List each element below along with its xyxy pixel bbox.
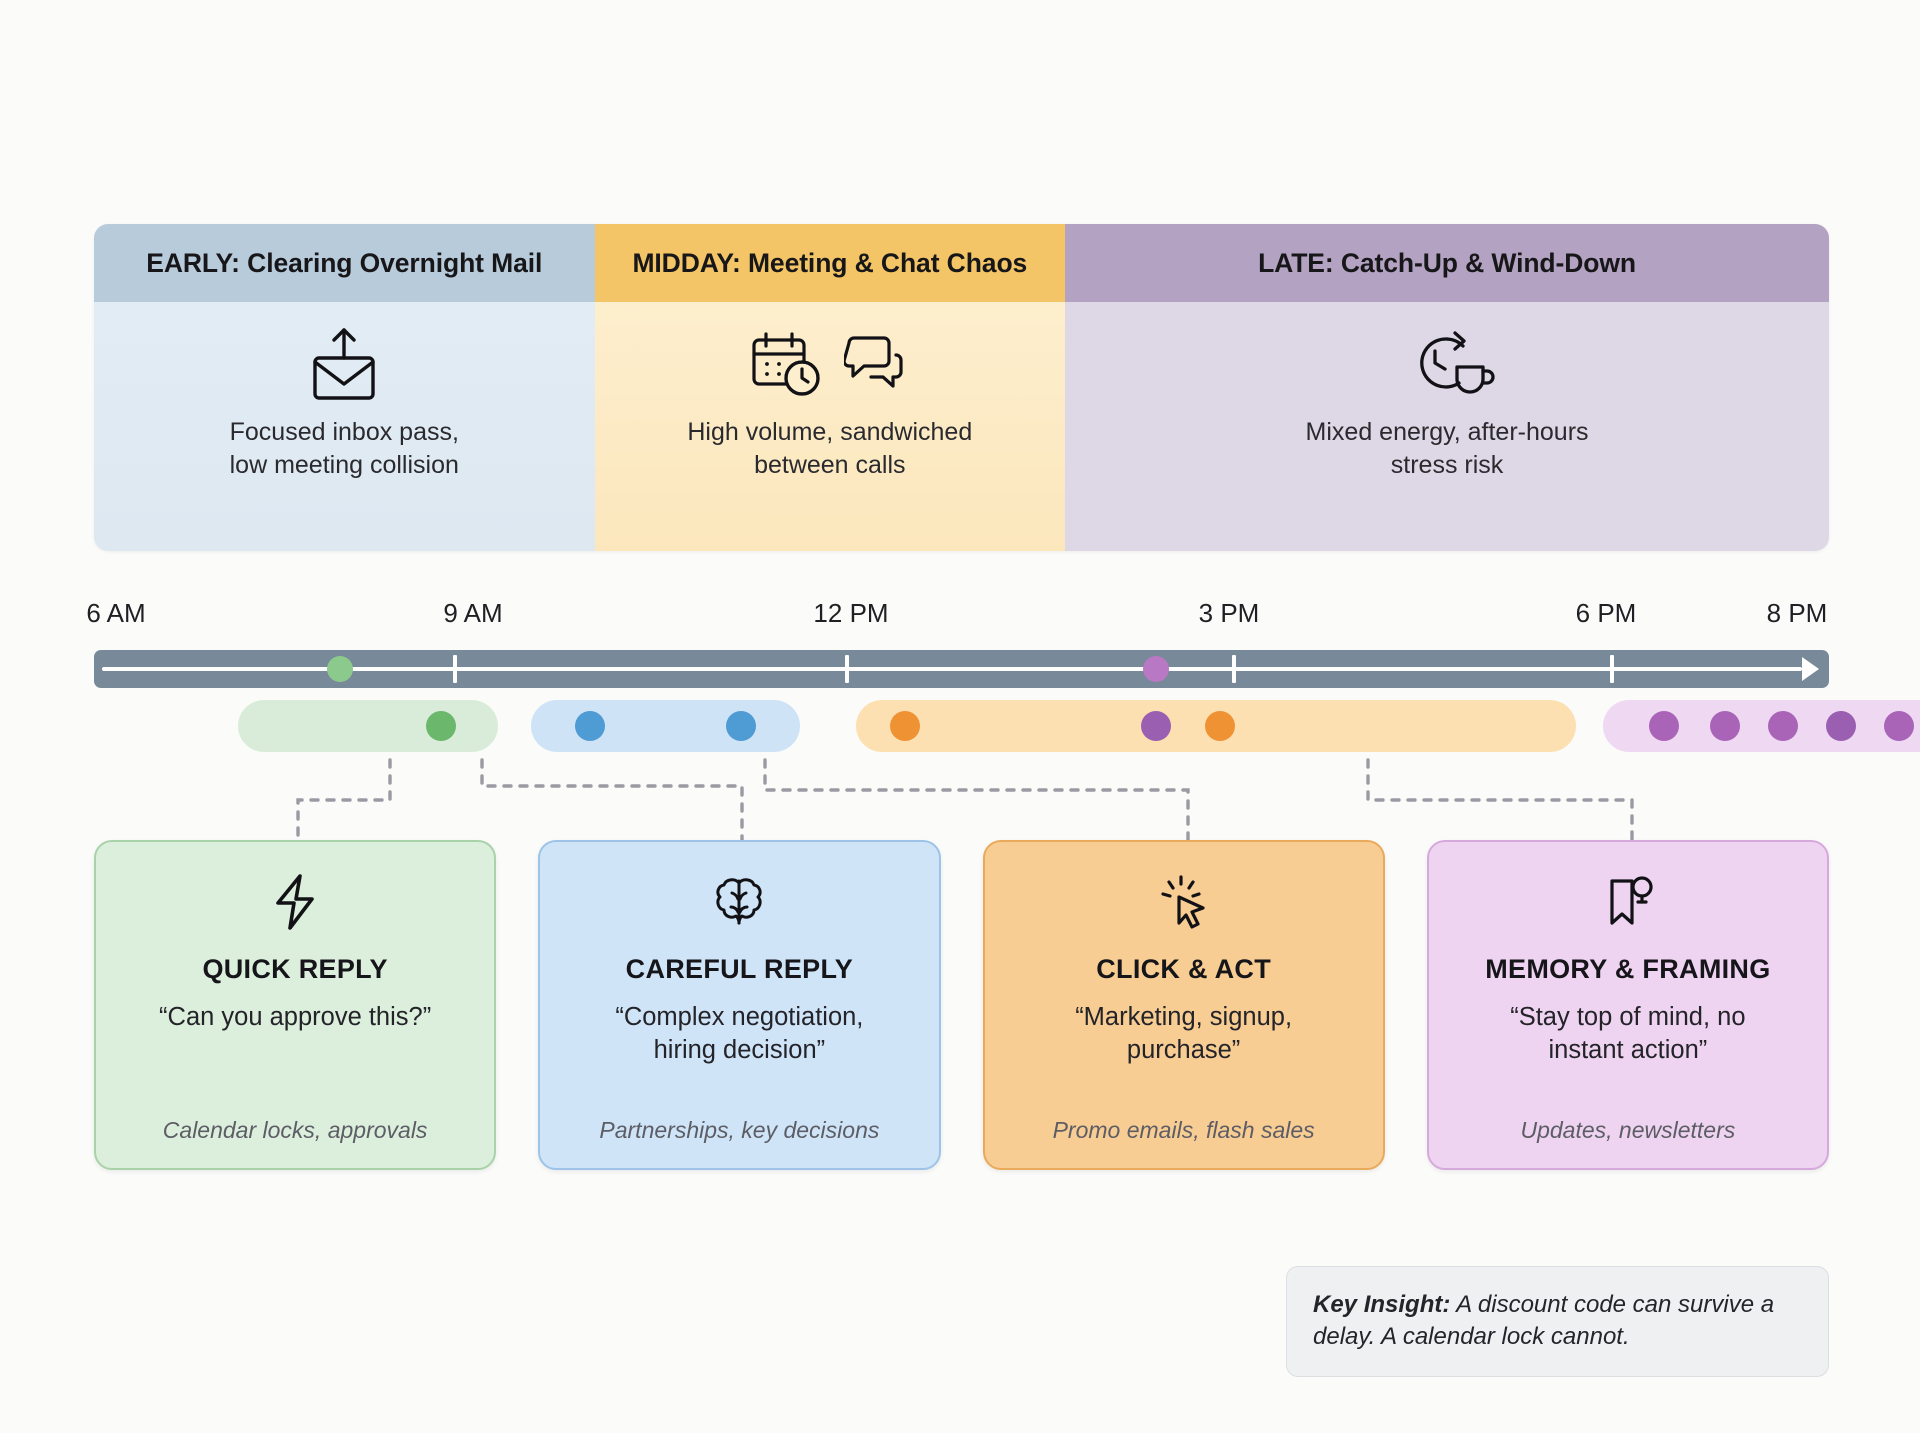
card-note: Calendar locks, approvals	[163, 1117, 428, 1144]
card-quote: “Can you approve this?”	[159, 1001, 431, 1034]
phase-early: EARLY: Clearing Overnight Mail Focused i…	[94, 224, 595, 551]
phase-late: LATE: Catch-Up & Wind-Down Mixed energy,…	[1065, 224, 1829, 551]
card-title: CLICK & ACT	[1096, 954, 1271, 985]
card-quote-line1: “Can you approve this?”	[159, 1001, 431, 1034]
cursor-click-icon	[1155, 872, 1213, 932]
card-quote: “Complex negotiation, hiring decision”	[615, 1001, 863, 1067]
memory-framing-lane[interactable]	[1603, 700, 1920, 752]
lane-dot[interactable]	[1141, 711, 1171, 741]
phase-midday-desc-line2: between calls	[687, 449, 972, 482]
card-quote-line2: instant action”	[1510, 1034, 1745, 1067]
card-quote-line2: purchase”	[1075, 1034, 1292, 1067]
brain-icon	[710, 872, 768, 932]
phase-midday-description: High volume, sandwiched between calls	[687, 416, 972, 483]
axis-label-6pm: 6 PM	[1576, 598, 1637, 629]
axis-label-3pm: 3 PM	[1199, 598, 1260, 629]
timeline-tick-12pm	[845, 655, 849, 683]
phase-band-group: EARLY: Clearing Overnight Mail Focused i…	[94, 224, 1829, 551]
axis-label-8pm: 8 PM	[1767, 598, 1828, 629]
careful-reply-lane[interactable]	[531, 700, 800, 752]
bookmark-lightbulb-icon	[1600, 872, 1656, 932]
phase-midday: MIDDAY: Meeting & Chat Chaos	[595, 224, 1066, 551]
timeline-baseline	[102, 667, 1802, 671]
quick-reply-lane[interactable]	[238, 700, 498, 752]
lane-dot[interactable]	[890, 711, 920, 741]
lane-dot[interactable]	[1710, 711, 1740, 741]
card-quote: “Stay top of mind, no instant action”	[1510, 1001, 1745, 1067]
lane-dot[interactable]	[1826, 711, 1856, 741]
card-title: MEMORY & FRAMING	[1485, 954, 1770, 985]
key-insight-label: Key Insight:	[1313, 1291, 1450, 1318]
lane-dot[interactable]	[575, 711, 605, 741]
phase-midday-title: MIDDAY: Meeting & Chat Chaos	[632, 248, 1027, 279]
timeline-tick-6pm	[1610, 655, 1614, 683]
timeline-track[interactable]	[94, 650, 1829, 688]
channel-card-group: QUICK REPLY “Can you approve this?” Cale…	[94, 840, 1829, 1170]
outbox-envelope-icon	[301, 328, 387, 400]
key-insight-box: Key Insight: A discount code can survive…	[1286, 1266, 1829, 1377]
lane-dot[interactable]	[1649, 711, 1679, 741]
timeline-dot-memory-framing[interactable]	[1143, 656, 1169, 682]
right-arrow-icon	[1802, 657, 1819, 681]
card-note: Promo emails, flash sales	[1053, 1117, 1315, 1144]
timeline-tick-9am	[453, 655, 457, 683]
card-title: CAREFUL REPLY	[626, 954, 853, 985]
axis-label-6am: 6 AM	[86, 598, 145, 629]
clock-coffee-icon	[1399, 328, 1495, 400]
card-quote-line1: “Stay top of mind, no	[1510, 1001, 1745, 1034]
lane-dot[interactable]	[726, 711, 756, 741]
axis-label-12pm: 12 PM	[813, 598, 888, 629]
lane-dot[interactable]	[1205, 711, 1235, 741]
phase-late-title: LATE: Catch-Up & Wind-Down	[1258, 248, 1636, 279]
card-quick-reply[interactable]: QUICK REPLY “Can you approve this?” Cale…	[94, 840, 496, 1170]
time-axis-labels: 6 AM 9 AM 12 PM 3 PM 6 PM 8 PM	[0, 598, 1920, 632]
lane-dot[interactable]	[426, 711, 456, 741]
phase-midday-body: High volume, sandwiched between calls	[595, 302, 1066, 551]
connector-click-act	[765, 760, 1188, 840]
infographic-canvas: EARLY: Clearing Overnight Mail Focused i…	[0, 0, 1920, 1433]
phase-late-description: Mixed energy, after-hours stress risk	[1306, 416, 1589, 483]
card-quote-line2: hiring decision”	[615, 1034, 863, 1067]
phase-late-desc-line2: stress risk	[1306, 449, 1589, 482]
card-quote: “Marketing, signup, purchase”	[1075, 1001, 1292, 1067]
card-click-act[interactable]: CLICK & ACT “Marketing, signup, purchase…	[983, 840, 1385, 1170]
axis-label-9am: 9 AM	[443, 598, 502, 629]
timeline-dot-quick-reply[interactable]	[327, 656, 353, 682]
click-act-lane[interactable]	[856, 700, 1576, 752]
lane-dot[interactable]	[1884, 711, 1914, 741]
calendar-clock-and-chat-icon	[748, 328, 912, 400]
phase-early-body: Focused inbox pass, low meeting collisio…	[94, 302, 595, 551]
phase-midday-desc-line1: High volume, sandwiched	[687, 416, 972, 449]
connector-quick-reply	[298, 760, 390, 840]
card-note: Updates, newsletters	[1520, 1117, 1735, 1144]
connector-memory-framing	[1368, 760, 1632, 840]
card-quote-line1: “Marketing, signup,	[1075, 1001, 1292, 1034]
timeline-tick-3pm	[1232, 655, 1236, 683]
card-title: QUICK REPLY	[202, 954, 387, 985]
phase-midday-header: MIDDAY: Meeting & Chat Chaos	[595, 224, 1066, 302]
phase-early-desc-line2: low meeting collision	[230, 449, 459, 482]
card-careful-reply[interactable]: CAREFUL REPLY “Complex negotiation, hiri…	[538, 840, 940, 1170]
card-memory-framing[interactable]: MEMORY & FRAMING “Stay top of mind, no i…	[1427, 840, 1829, 1170]
connector-careful-reply	[482, 760, 742, 840]
lane-dot[interactable]	[1768, 711, 1798, 741]
phase-late-header: LATE: Catch-Up & Wind-Down	[1065, 224, 1829, 302]
phase-early-header: EARLY: Clearing Overnight Mail	[94, 224, 595, 302]
phase-late-desc-line1: Mixed energy, after-hours	[1306, 416, 1589, 449]
card-quote-line1: “Complex negotiation,	[615, 1001, 863, 1034]
phase-early-title: EARLY: Clearing Overnight Mail	[146, 248, 542, 279]
phase-early-description: Focused inbox pass, low meeting collisio…	[230, 416, 459, 483]
channel-lane-group	[94, 700, 1829, 752]
lightning-bolt-icon	[270, 872, 320, 932]
phase-late-body: Mixed energy, after-hours stress risk	[1065, 302, 1829, 551]
card-note: Partnerships, key decisions	[599, 1117, 879, 1144]
phase-early-desc-line1: Focused inbox pass,	[230, 416, 459, 449]
